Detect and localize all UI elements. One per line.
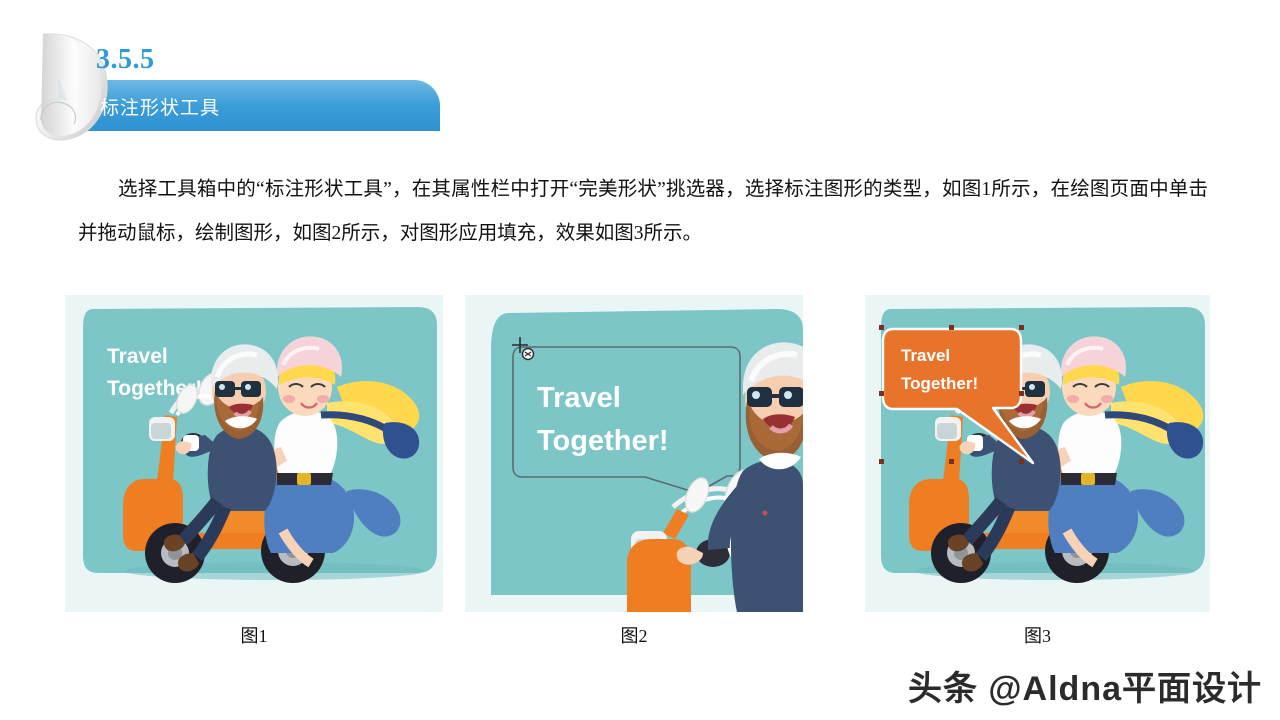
header-block: 3.5.5 标注形状工具	[0, 0, 520, 160]
watermark: 头条 @Aldna平面设计	[908, 661, 1262, 710]
section-number: 3.5.5	[96, 46, 155, 74]
figure-2-image: Travel Together!	[465, 295, 803, 612]
callout-headline-1: Travel	[901, 346, 950, 365]
figure-1-caption: 图1	[65, 622, 443, 648]
illustration-1: Travel Together!	[65, 295, 443, 612]
figure-2-caption: 图2	[465, 622, 803, 648]
illustration-headline-1: Travel	[537, 382, 621, 414]
illustration-headline-2: Together!	[537, 425, 669, 457]
callout-headline-2: Together!	[901, 374, 978, 393]
figure-3-caption: 图3	[865, 622, 1210, 648]
illustration-2: Travel Together!	[465, 295, 803, 612]
figure-1-image: Travel Together!	[65, 295, 443, 612]
body-paragraph: 选择工具箱中的“标注形状工具”，在其属性栏中打开“完美形状”挑选器，选择标注图形…	[78, 168, 1208, 256]
illustration-headline-1: Travel	[107, 345, 168, 368]
figure-3-image: Travel Together!	[865, 295, 1210, 612]
illustration-3: Travel Together!	[865, 295, 1210, 612]
page-title: 标注形状工具	[100, 93, 220, 120]
